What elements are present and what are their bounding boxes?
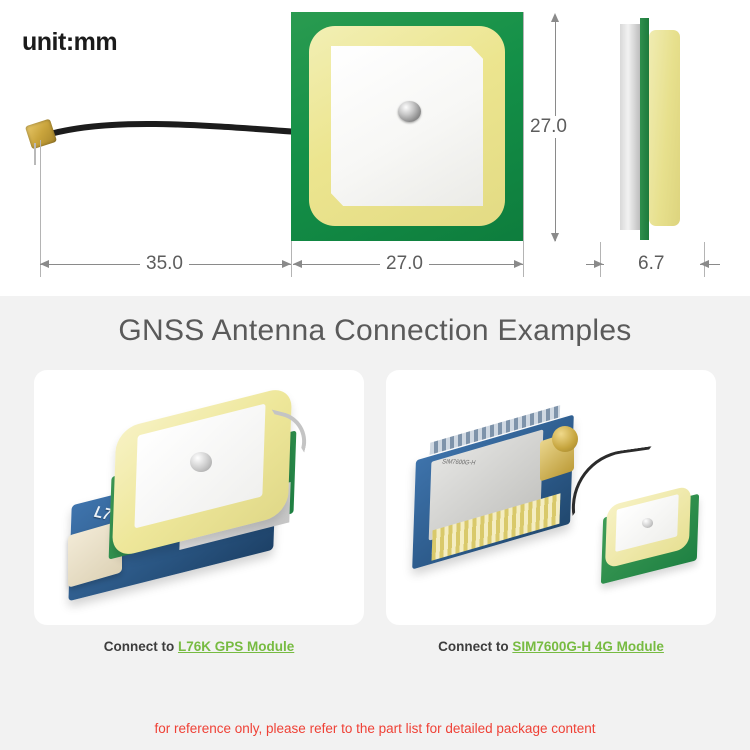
- example-card-sim7600[interactable]: SIM7600G-H: [386, 370, 716, 625]
- caption-prefix-l76k: Connect to: [104, 639, 175, 654]
- example-cards-container: L76X GPS Module SIM7600G-H: [0, 370, 750, 625]
- sim7600-sma-connector: [552, 426, 578, 452]
- antenna-white-ceramic: [331, 46, 483, 206]
- dim-arrow-thickness-left: [594, 260, 603, 268]
- antenna-feed-pin: [398, 101, 421, 122]
- sim7600-photo: SIM7600G-H: [404, 400, 704, 605]
- dim-value-cable-length: 35.0: [140, 253, 189, 275]
- antenna-top-view: [291, 12, 523, 241]
- caption-link-sim7600[interactable]: SIM7600G-H 4G Module: [512, 639, 664, 654]
- sim7600-antenna-feed-pin: [642, 518, 653, 528]
- dim-value-thickness: 6.7: [632, 253, 670, 275]
- footnote-disclaimer: for reference only, please refer to the …: [0, 721, 750, 736]
- card-captions-row: Connect to L76K GPS Module Connect to SI…: [0, 625, 750, 654]
- example-card-l76k[interactable]: L76X GPS Module: [34, 370, 364, 625]
- dim-arrow-cable-left: [40, 260, 49, 268]
- sim7600-shield-label: SIM7600G-H: [441, 459, 476, 467]
- dim-arrow-thickness-right: [700, 260, 709, 268]
- section-title: GNSS Antenna Connection Examples: [0, 296, 750, 348]
- caption-sim7600: Connect to SIM7600G-H 4G Module: [386, 639, 716, 654]
- caption-l76k: Connect to L76K GPS Module: [34, 639, 364, 654]
- dim-arrow-width-right: [514, 260, 523, 268]
- product-spec-page: unit:mm 35.0: [0, 0, 750, 750]
- dim-arrow-height-top: [551, 13, 559, 22]
- ext-line-right: [523, 12, 524, 277]
- side-pcb-edge: [640, 18, 649, 240]
- dim-arrow-cable-right: [282, 260, 291, 268]
- caption-prefix-sim7600: Connect to: [438, 639, 509, 654]
- ext-line-left: [291, 241, 292, 277]
- l76k-photo: L76X GPS Module: [62, 392, 337, 607]
- dim-value-board-height: 27.0: [524, 116, 573, 138]
- coax-cable: [20, 110, 300, 170]
- cable-path-icon: [20, 110, 300, 170]
- dim-arrow-height-bottom: [551, 233, 559, 242]
- connection-examples-section: GNSS Antenna Connection Examples L76X GP…: [0, 296, 750, 750]
- side-ceramic-block: [649, 30, 680, 226]
- caption-cell-sim7600: Connect to SIM7600G-H 4G Module: [386, 625, 716, 654]
- antenna-side-view: [600, 16, 704, 242]
- dim-value-board-width: 27.0: [380, 253, 429, 275]
- ext-line-cable-start: [40, 140, 41, 277]
- l76k-antenna-feed-pin: [190, 452, 212, 472]
- ufl-pigtail-icon: [34, 143, 36, 165]
- caption-link-l76k[interactable]: L76K GPS Module: [178, 639, 294, 654]
- unit-label: unit:mm: [22, 28, 117, 57]
- dim-arrow-width-left: [293, 260, 302, 268]
- caption-cell-l76k: Connect to L76K GPS Module: [34, 625, 364, 654]
- dimension-drawing-section: unit:mm 35.0: [0, 0, 750, 296]
- side-ground-plane: [620, 24, 640, 230]
